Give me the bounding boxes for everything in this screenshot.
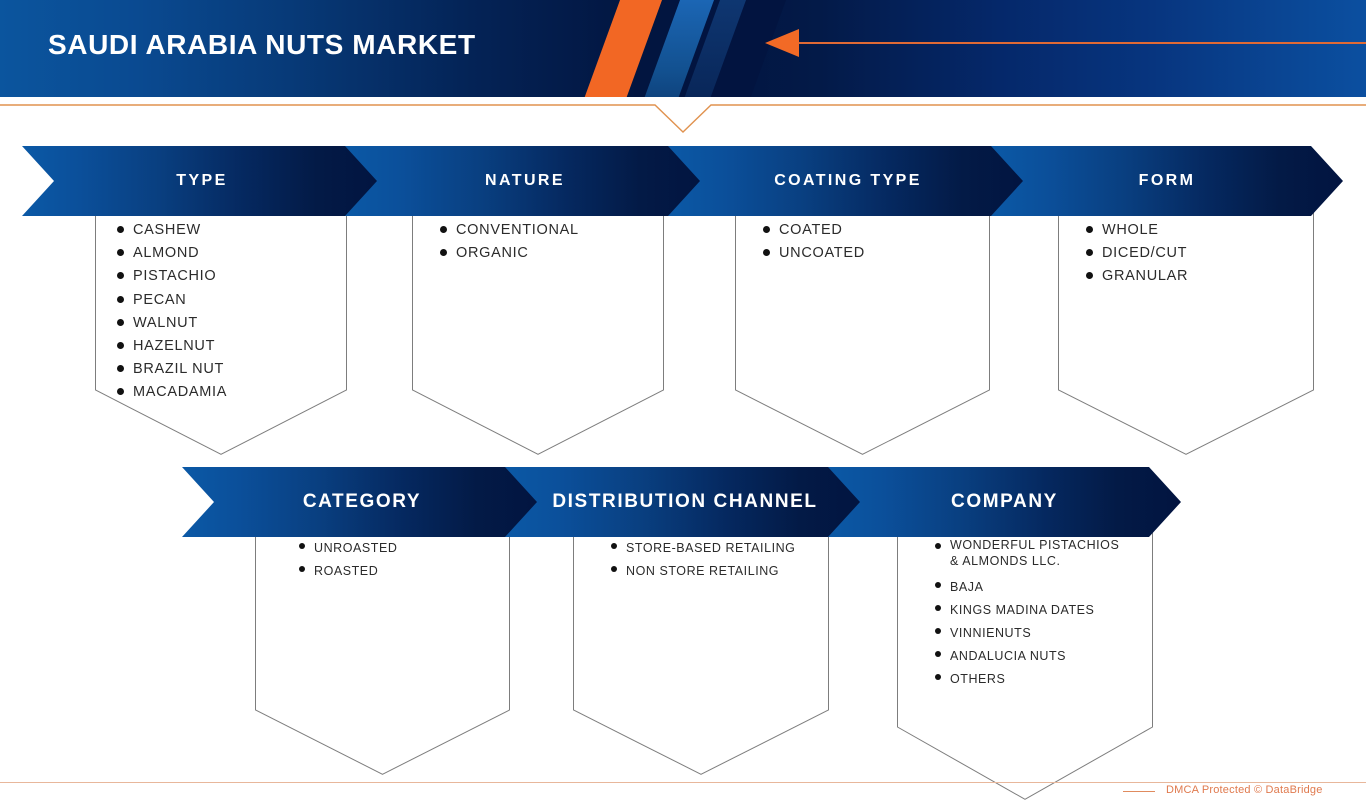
list-item: PECAN	[117, 289, 347, 312]
bullet-icon	[763, 226, 770, 233]
bullet-icon	[611, 543, 617, 549]
bullet-icon	[299, 543, 305, 549]
list-item: ROASTED	[299, 560, 510, 583]
list-item-label: WONDERFUL PISTACHIOS & ALMONDS LLC.	[950, 537, 1119, 569]
banner-nature[interactable]: NATURE	[345, 146, 705, 216]
banner-label-distribution-channel: DISTRIBUTION CHANNEL	[552, 491, 817, 513]
bullet-icon	[299, 566, 305, 572]
list-item-label: KINGS MADINA DATES	[950, 599, 1094, 622]
banner-type[interactable]: TYPE	[22, 146, 382, 216]
bullet-icon	[117, 226, 124, 233]
list-item-label: UNCOATED	[779, 242, 865, 265]
list-item: UNROASTED	[299, 537, 510, 560]
list-item-label: UNROASTED	[314, 537, 397, 560]
list-item-label: ALMOND	[133, 242, 199, 265]
banner-coating-type[interactable]: COATING TYPE	[668, 146, 1028, 216]
list-item: HAZELNUT	[117, 335, 347, 358]
panel-nature: CONVENTIONALORGANIC	[412, 205, 664, 455]
list-item: ANDALUCIA NUTS	[935, 645, 1153, 668]
left-arrow-icon	[765, 29, 799, 57]
bullet-icon	[935, 651, 941, 657]
page-header: SAUDI ARABIA NUTS MARKET	[0, 0, 1366, 97]
banner-label-category: CATEGORY	[303, 491, 421, 513]
bullet-icon	[440, 249, 447, 256]
list-item-label: HAZELNUT	[133, 335, 215, 358]
banner-form[interactable]: FORM	[991, 146, 1343, 216]
list-item-label: PISTACHIO	[133, 265, 216, 288]
list-item: MACADAMIA	[117, 381, 347, 404]
bullet-icon	[935, 628, 941, 634]
bullet-icon	[1086, 226, 1093, 233]
bullet-icon	[117, 319, 124, 326]
list-item: NON STORE RETAILING	[611, 560, 829, 583]
banner-label-nature: NATURE	[485, 172, 565, 190]
list-item: CONVENTIONAL	[440, 219, 664, 242]
list-item-label: WALNUT	[133, 312, 198, 335]
footer-copyright: DMCA Protected © DataBridge	[1166, 784, 1323, 796]
banner-label-company: COMPANY	[951, 491, 1058, 513]
list-item-label: STORE-BASED RETAILING	[626, 537, 795, 560]
list-item-label: CASHEW	[133, 219, 201, 242]
list-item: DICED/CUT	[1086, 242, 1314, 265]
bullet-icon	[117, 296, 124, 303]
list-form: WHOLEDICED/CUTGRANULAR	[1058, 205, 1314, 289]
panel-coating-type: COATEDUNCOATED	[735, 205, 990, 455]
bullet-icon	[935, 543, 941, 549]
list-item: COATED	[763, 219, 990, 242]
bullet-icon	[611, 566, 617, 572]
list-item: VINNIENUTS	[935, 622, 1153, 645]
list-item-label: VINNIENUTS	[950, 622, 1031, 645]
footer-dash	[1123, 791, 1155, 792]
list-item-label: NON STORE RETAILING	[626, 560, 779, 583]
list-item-label: CONVENTIONAL	[456, 219, 579, 242]
list-item: STORE-BASED RETAILING	[611, 537, 829, 560]
list-item: CASHEW	[117, 219, 347, 242]
list-item: UNCOATED	[763, 242, 990, 265]
list-item: BRAZIL NUT	[117, 358, 347, 381]
bullet-icon	[935, 605, 941, 611]
list-item-label: WHOLE	[1102, 219, 1159, 242]
bullet-icon	[117, 365, 124, 372]
list-type: CASHEWALMONDPISTACHIOPECANWALNUTHAZELNUT…	[95, 205, 347, 405]
infographic-canvas: SAUDI ARABIA NUTS MARKET CASHEWALMONDPIS…	[0, 0, 1366, 808]
list-item: WALNUT	[117, 312, 347, 335]
banner-label-form: FORM	[1139, 172, 1196, 190]
list-item: ORGANIC	[440, 242, 664, 265]
panel-category: UNROASTEDROASTED	[255, 525, 510, 775]
list-item-label: GRANULAR	[1102, 265, 1188, 288]
list-item-label: BAJA	[950, 576, 983, 599]
banner-label-type: TYPE	[176, 172, 227, 190]
banner-company[interactable]: COMPANY	[828, 467, 1181, 537]
bullet-icon	[117, 249, 124, 256]
list-item: WONDERFUL PISTACHIOS & ALMONDS LLC.	[935, 537, 1153, 569]
header-divider	[0, 103, 1366, 137]
list-item: WHOLE	[1086, 219, 1314, 242]
bullet-icon	[1086, 249, 1093, 256]
list-item: OTHERS	[935, 668, 1153, 691]
arrow-rule	[798, 42, 1366, 44]
list-item-label: PECAN	[133, 289, 186, 312]
list-item-label: OTHERS	[950, 668, 1005, 691]
panel-distribution-channel: STORE-BASED RETAILINGNON STORE RETAILING	[573, 525, 829, 775]
page-title: SAUDI ARABIA NUTS MARKET	[48, 29, 476, 61]
panel-company: WONDERFUL PISTACHIOS & ALMONDS LLC.BAJAK…	[897, 525, 1153, 800]
panel-type: CASHEWALMONDPISTACHIOPECANWALNUTHAZELNUT…	[95, 205, 347, 455]
list-item: BAJA	[935, 576, 1153, 599]
footer-rule	[0, 782, 1366, 783]
list-item: KINGS MADINA DATES	[935, 599, 1153, 622]
bullet-icon	[117, 342, 124, 349]
bullet-icon	[935, 582, 941, 588]
bullet-icon	[763, 249, 770, 256]
list-item: GRANULAR	[1086, 265, 1314, 288]
bullet-icon	[117, 272, 124, 279]
bullet-icon	[1086, 272, 1093, 279]
banner-distribution-channel[interactable]: DISTRIBUTION CHANNEL	[505, 467, 865, 537]
list-item-label: ORGANIC	[456, 242, 529, 265]
panel-form: WHOLEDICED/CUTGRANULAR	[1058, 205, 1314, 455]
bullet-icon	[935, 674, 941, 680]
list-item-label: MACADAMIA	[133, 381, 227, 404]
banner-label-coating-type: COATING TYPE	[774, 172, 922, 190]
header-right-gradient	[700, 0, 1366, 97]
list-item-label: ROASTED	[314, 560, 378, 583]
bullet-icon	[440, 226, 447, 233]
list-company: WONDERFUL PISTACHIOS & ALMONDS LLC.BAJAK…	[897, 525, 1153, 691]
banner-category[interactable]: CATEGORY	[182, 467, 542, 537]
list-item-label: ANDALUCIA NUTS	[950, 645, 1066, 668]
list-item: PISTACHIO	[117, 265, 347, 288]
list-item-label: BRAZIL NUT	[133, 358, 224, 381]
list-item-label: COATED	[779, 219, 843, 242]
list-item: ALMOND	[117, 242, 347, 265]
bullet-icon	[117, 388, 124, 395]
list-item-label: DICED/CUT	[1102, 242, 1187, 265]
